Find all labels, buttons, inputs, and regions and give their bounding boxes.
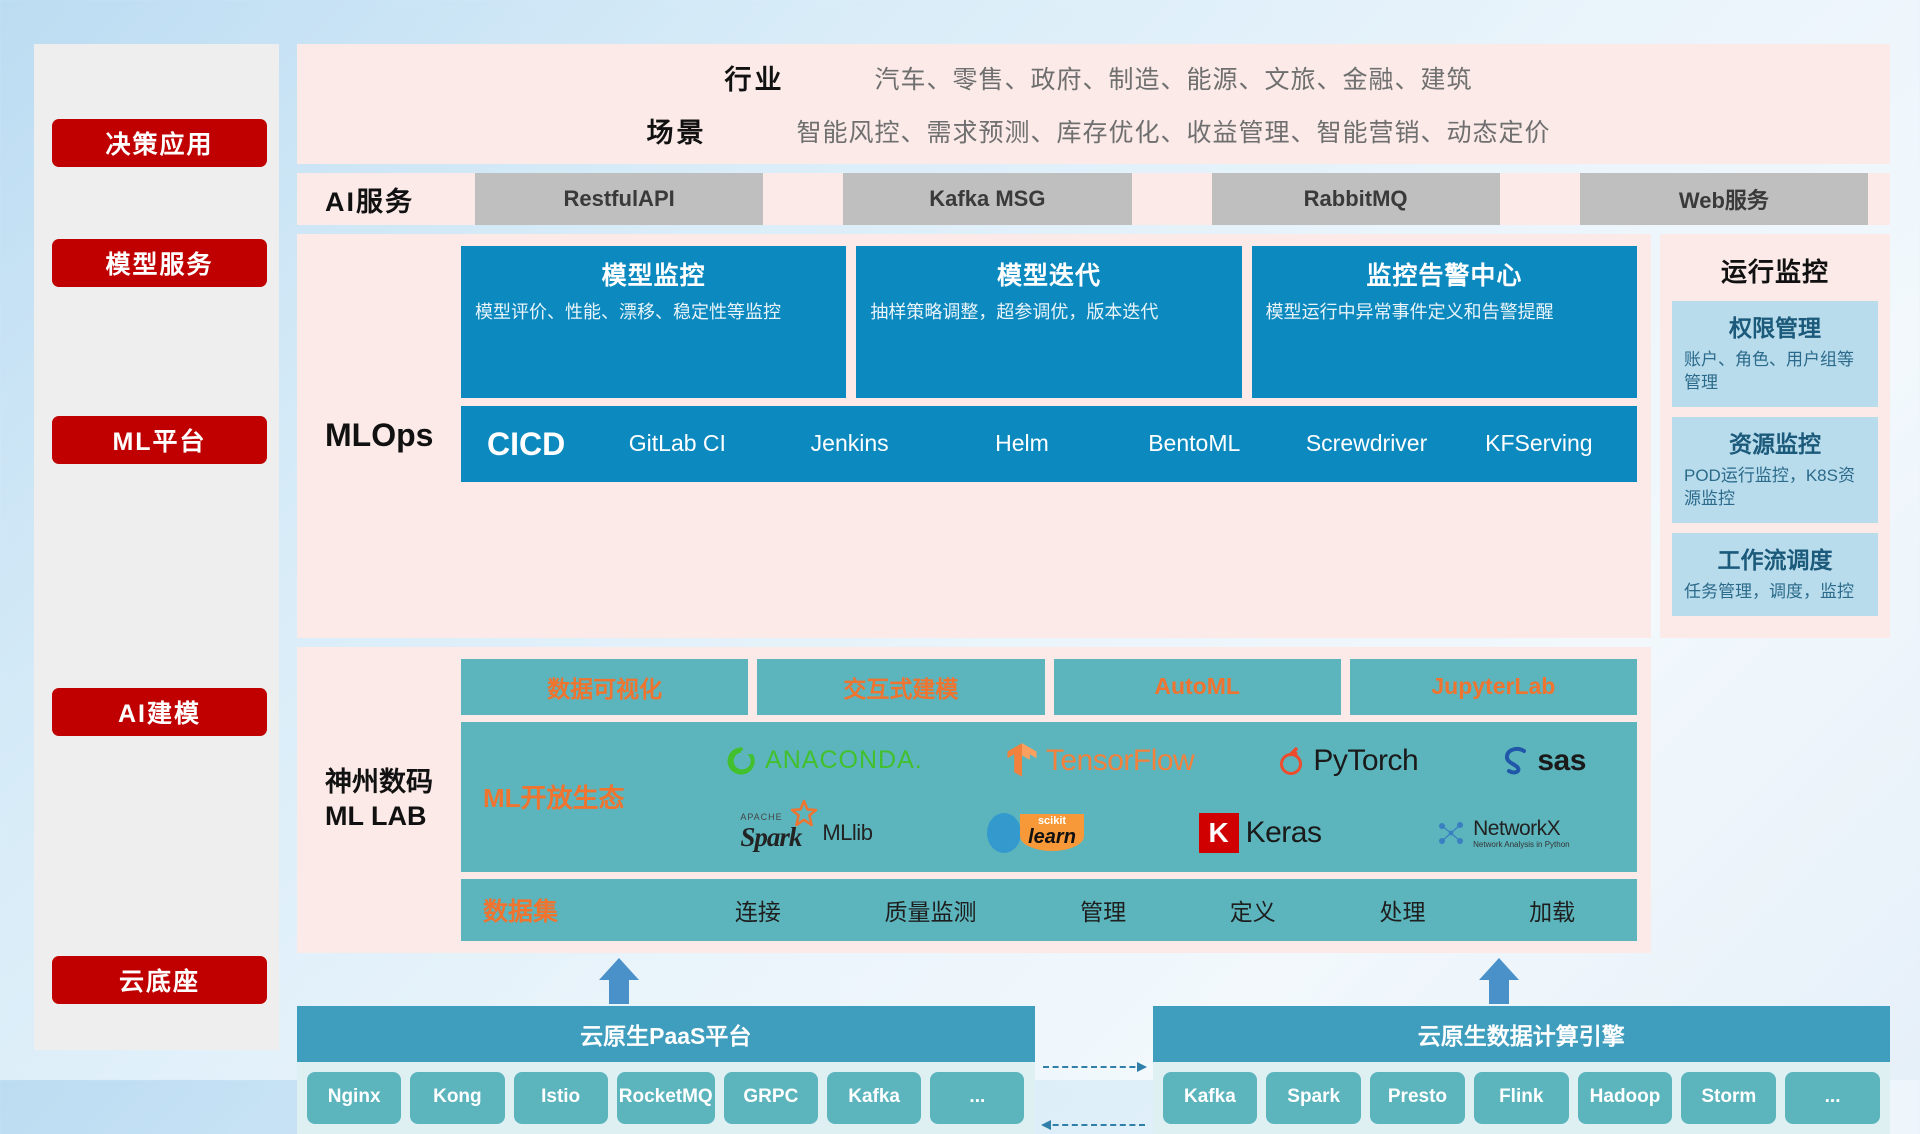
spark-star-icon bbox=[789, 799, 819, 829]
ml-lab-label-line2: ML LAB bbox=[325, 800, 433, 834]
ecosystem-label: ML开放生态 bbox=[483, 778, 683, 815]
tool-jupyterlab[interactable]: JupyterLab bbox=[1350, 659, 1637, 715]
monitoring-card-resources[interactable]: 资源监控 POD运行监控，K8S资源监控 bbox=[1672, 417, 1878, 523]
chip-flink[interactable]: Flink bbox=[1474, 1072, 1569, 1124]
mlops-card-model-monitoring[interactable]: 模型监控 模型评价、性能、漂移、稳定性等监控 bbox=[461, 246, 846, 398]
dataset-items: 连接 质量监测 管理 定义 处理 加载 bbox=[683, 893, 1627, 927]
mlops-body: 模型监控 模型评价、性能、漂移、稳定性等监控 模型迭代 抽样策略调整，超参调优，… bbox=[461, 246, 1637, 626]
networkx-logo: NetworkX Network Analysis in Python bbox=[1436, 817, 1570, 849]
scikit-learn-logo: scikit learn bbox=[987, 813, 1084, 853]
industry-row: 行业 汽车、零售、政府、制造、能源、文旅、金融、建筑 bbox=[724, 58, 1472, 97]
tool-automl[interactable]: AutoML bbox=[1054, 659, 1341, 715]
monitoring-spacer bbox=[1660, 647, 1890, 953]
dataset-item-quality[interactable]: 质量监测 bbox=[884, 893, 976, 927]
ml-platform-row: MLOps 模型监控 模型评价、性能、漂移、稳定性等监控 模型迭代 抽样策略调整… bbox=[297, 234, 1890, 638]
sas-icon bbox=[1500, 744, 1530, 778]
chip-rocketmq[interactable]: RocketMQ bbox=[617, 1072, 715, 1124]
ecosystem-logos-row1: ANACONDA. TensorFlow PyTorch bbox=[683, 727, 1627, 795]
anaconda-icon bbox=[724, 744, 758, 778]
rail-label: AI建模 bbox=[118, 694, 201, 730]
dataset-item-process[interactable]: 处理 bbox=[1379, 893, 1425, 927]
chip-spark[interactable]: Spark bbox=[1266, 1072, 1361, 1124]
chip-kafka[interactable]: Kafka bbox=[827, 1072, 921, 1124]
rail-item-cloud-base[interactable]: 云底座 bbox=[52, 956, 267, 1004]
service-button-web[interactable]: Web服务 bbox=[1580, 173, 1868, 225]
pytorch-label: PyTorch bbox=[1313, 744, 1418, 778]
rail-item-ml-platform[interactable]: ML平台 bbox=[52, 416, 267, 464]
networkx-label: NetworkX bbox=[1473, 817, 1560, 840]
layer-rail: 决策应用 模型服务 ML平台 AI建模 云底座 bbox=[34, 44, 279, 1050]
arrow-right-icon bbox=[1043, 1066, 1145, 1068]
paas-title: 云原生PaaS平台 bbox=[297, 1006, 1035, 1062]
dataset-item-define[interactable]: 定义 bbox=[1230, 893, 1276, 927]
mlops-card-alert-center[interactable]: 监控告警中心 模型运行中异常事件定义和告警提醒 bbox=[1252, 246, 1637, 398]
service-button-restful[interactable]: RestfulAPI bbox=[475, 173, 763, 225]
chip-storm[interactable]: Storm bbox=[1681, 1072, 1776, 1124]
card-desc: POD运行监控，K8S资源监控 bbox=[1684, 465, 1866, 511]
mlops-band: MLOps 模型监控 模型评价、性能、漂移、稳定性等监控 模型迭代 抽样策略调整… bbox=[297, 234, 1651, 638]
tool-data-visualization[interactable]: 数据可视化 bbox=[461, 659, 748, 715]
card-desc: 模型评价、性能、漂移、稳定性等监控 bbox=[475, 300, 832, 325]
arrow-left-icon bbox=[1043, 1124, 1145, 1126]
keras-k-icon: K bbox=[1199, 813, 1239, 853]
card-desc: 任务管理，调度，监控 bbox=[1684, 581, 1866, 604]
pytorch-logo: PyTorch bbox=[1276, 744, 1418, 778]
tool-interactive-modeling[interactable]: 交互式建模 bbox=[757, 659, 1044, 715]
sas-logo: sas bbox=[1500, 744, 1586, 778]
card-desc: 抽样策略调整，超参调优，版本迭代 bbox=[870, 300, 1227, 325]
scenario-key: 场景 bbox=[646, 111, 796, 150]
mlops-cards: 模型监控 模型评价、性能、漂移、稳定性等监控 模型迭代 抽样策略调整，超参调优，… bbox=[461, 246, 1637, 398]
rail-label: 云底座 bbox=[119, 962, 200, 998]
rail-item-model-service[interactable]: 模型服务 bbox=[52, 239, 267, 287]
cicd-bar: CICD GitLab CI Jenkins Helm BentoML Scre… bbox=[461, 406, 1637, 482]
monitoring-card-workflow[interactable]: 工作流调度 任务管理，调度，监控 bbox=[1672, 533, 1878, 616]
up-arrow-compute bbox=[1477, 958, 1521, 1004]
ml-lab-band: 神州数码 ML LAB 数据可视化 交互式建模 AutoML JupyterLa… bbox=[297, 647, 1651, 953]
chip-kafka-compute[interactable]: Kafka bbox=[1163, 1072, 1258, 1124]
rail-label: 模型服务 bbox=[105, 245, 213, 281]
ai-modeling-row: 神州数码 ML LAB 数据可视化 交互式建模 AutoML JupyterLa… bbox=[297, 647, 1890, 953]
anaconda-logo: ANACONDA. bbox=[724, 744, 923, 778]
ml-lab-body: 数据可视化 交互式建模 AutoML JupyterLab ML开放生态 ANA… bbox=[461, 659, 1637, 941]
card-desc: 账户、角色、用户组等管理 bbox=[1684, 349, 1866, 395]
dataset-row: 数据集 连接 质量监测 管理 定义 处理 加载 bbox=[461, 879, 1637, 941]
cloud-base-row: 云原生PaaS平台 Nginx Kong Istio RocketMQ GRPC… bbox=[297, 962, 1890, 1134]
dataset-item-connect[interactable]: 连接 bbox=[735, 893, 781, 927]
service-button-kafka[interactable]: Kafka MSG bbox=[843, 173, 1131, 225]
card-title: 模型迭代 bbox=[870, 256, 1227, 292]
up-arrow-paas bbox=[597, 958, 641, 1004]
ml-lab-tools: 数据可视化 交互式建模 AutoML JupyterLab bbox=[461, 659, 1637, 715]
ml-ecosystem: ML开放生态 ANACONDA. TensorFlow bbox=[461, 722, 1637, 872]
architecture-diagram: 决策应用 模型服务 ML平台 AI建模 云底座 行业 汽车、零售、政府、制造、能… bbox=[0, 0, 1920, 1080]
chip-istio[interactable]: Istio bbox=[514, 1072, 608, 1124]
cicd-item-gitlab[interactable]: GitLab CI bbox=[591, 431, 763, 457]
rail-item-decision-apps[interactable]: 决策应用 bbox=[52, 119, 267, 167]
scikit-badge: scikit learn bbox=[1020, 814, 1084, 851]
ai-services-label: AI服务 bbox=[325, 180, 475, 219]
dataset-item-load[interactable]: 加载 bbox=[1529, 893, 1575, 927]
industry-value: 汽车、零售、政府、制造、能源、文旅、金融、建筑 bbox=[874, 60, 1472, 96]
cloud-connector bbox=[1035, 1006, 1153, 1134]
scenario-row: 场景 智能风控、需求预测、库存优化、收益管理、智能营销、动态定价 bbox=[646, 111, 1550, 150]
card-title: 资源监控 bbox=[1684, 425, 1866, 459]
mlops-label: MLOps bbox=[325, 246, 461, 626]
scenario-value: 智能风控、需求预测、库存优化、收益管理、智能营销、动态定价 bbox=[796, 113, 1550, 149]
mllib-label: MLlib bbox=[822, 820, 872, 846]
chip-presto[interactable]: Presto bbox=[1370, 1072, 1465, 1124]
scikit-bottom-label: learn bbox=[1028, 827, 1076, 847]
paas-chips: Nginx Kong Istio RocketMQ GRPC Kafka ... bbox=[297, 1062, 1035, 1134]
cicd-item-jenkins[interactable]: Jenkins bbox=[764, 431, 936, 457]
card-desc: 模型运行中异常事件定义和告警提醒 bbox=[1266, 300, 1623, 325]
card-title: 模型监控 bbox=[475, 256, 832, 292]
rail-label: 决策应用 bbox=[105, 125, 213, 161]
ecosystem-logos: ANACONDA. TensorFlow PyTorch bbox=[683, 727, 1627, 867]
card-title: 监控告警中心 bbox=[1266, 256, 1623, 292]
networkx-icon bbox=[1436, 818, 1466, 848]
dataset-item-manage[interactable]: 管理 bbox=[1080, 893, 1126, 927]
compute-engine: 云原生数据计算引擎 Kafka Spark Presto Flink Hadoo… bbox=[1153, 1006, 1891, 1134]
chip-more[interactable]: ... bbox=[930, 1072, 1024, 1124]
pytorch-icon bbox=[1276, 744, 1306, 778]
chip-kong[interactable]: Kong bbox=[410, 1072, 504, 1124]
ml-lab-label-line1: 神州数码 bbox=[325, 766, 433, 800]
card-title: 工作流调度 bbox=[1684, 541, 1866, 575]
cicd-items: GitLab CI Jenkins Helm BentoML Screwdriv… bbox=[591, 431, 1625, 457]
rail-label: ML平台 bbox=[112, 422, 206, 458]
tensorflow-icon bbox=[1005, 742, 1039, 780]
chip-grpc[interactable]: GRPC bbox=[724, 1072, 818, 1124]
compute-chips: Kafka Spark Presto Flink Hadoop Storm ..… bbox=[1153, 1062, 1891, 1134]
decision-apps-band: 行业 汽车、零售、政府、制造、能源、文旅、金融、建筑 场景 智能风控、需求预测、… bbox=[297, 44, 1890, 164]
card-title: 权限管理 bbox=[1684, 309, 1866, 343]
dataset-label: 数据集 bbox=[483, 892, 683, 928]
runtime-monitoring-panel: 运行监控 权限管理 账户、角色、用户组等管理 资源监控 POD运行监控，K8S资… bbox=[1660, 234, 1890, 638]
scikit-dot-icon bbox=[987, 813, 1021, 853]
chip-hadoop[interactable]: Hadoop bbox=[1578, 1072, 1673, 1124]
ecosystem-logos-row2: APACHE Spark MLlib scikit bbox=[683, 799, 1627, 867]
tensorflow-logo: TensorFlow bbox=[1005, 742, 1194, 780]
cicd-title: CICD bbox=[473, 426, 591, 463]
rail-item-ai-modeling[interactable]: AI建模 bbox=[52, 688, 267, 736]
layers-stack: 行业 汽车、零售、政府、制造、能源、文旅、金融、建筑 场景 智能风控、需求预测、… bbox=[297, 44, 1890, 1050]
tensorflow-label: TensorFlow bbox=[1046, 744, 1194, 778]
compute-title: 云原生数据计算引擎 bbox=[1153, 1006, 1891, 1062]
industry-key: 行业 bbox=[724, 58, 874, 97]
ai-services-band: AI服务 RestfulAPI Kafka MSG RabbitMQ Web服务 bbox=[297, 173, 1890, 225]
service-button-rabbitmq[interactable]: RabbitMQ bbox=[1212, 173, 1500, 225]
ml-lab-label: 神州数码 ML LAB bbox=[325, 659, 461, 941]
cicd-item-bentoml[interactable]: BentoML bbox=[1108, 431, 1280, 457]
sas-label: sas bbox=[1537, 744, 1586, 778]
monitoring-card-permissions[interactable]: 权限管理 账户、角色、用户组等管理 bbox=[1672, 301, 1878, 407]
networkx-subtitle: Network Analysis in Python bbox=[1473, 841, 1570, 849]
paas-platform: 云原生PaaS平台 Nginx Kong Istio RocketMQ GRPC… bbox=[297, 1006, 1035, 1134]
cicd-item-kfserving[interactable]: KFServing bbox=[1453, 431, 1625, 457]
mlops-card-model-iteration[interactable]: 模型迭代 抽样策略调整，超参调优，版本迭代 bbox=[856, 246, 1241, 398]
cicd-item-helm[interactable]: Helm bbox=[936, 431, 1108, 457]
monitoring-title: 运行监控 bbox=[1672, 244, 1878, 301]
chip-nginx[interactable]: Nginx bbox=[307, 1072, 401, 1124]
ai-services-buttons: RestfulAPI Kafka MSG RabbitMQ Web服务 bbox=[475, 173, 1868, 225]
keras-label: Keras bbox=[1246, 816, 1322, 850]
chip-more-compute[interactable]: ... bbox=[1785, 1072, 1880, 1124]
anaconda-label: ANACONDA. bbox=[765, 746, 923, 775]
spark-mllib-logo: APACHE Spark MLlib bbox=[740, 813, 872, 853]
cicd-item-screwdriver[interactable]: Screwdriver bbox=[1280, 431, 1452, 457]
keras-logo: K Keras bbox=[1199, 813, 1322, 853]
